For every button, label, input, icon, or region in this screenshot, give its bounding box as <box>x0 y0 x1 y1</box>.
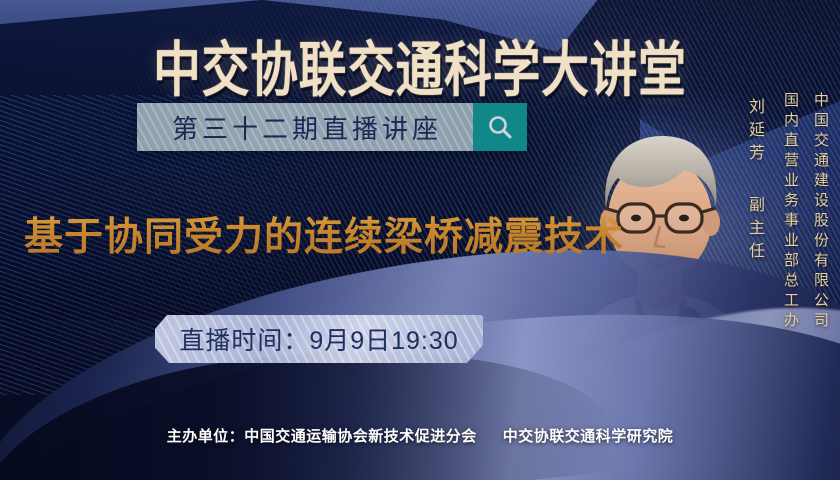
episode-label: 第三十二期直播讲座 <box>168 109 442 146</box>
page-title: 中交协联交通科学大讲堂 <box>13 22 828 109</box>
speaker-organization: 中国交通建设股份有限公司 <box>813 92 828 332</box>
broadcast-time-banner: 直播时间：9月9日19:30 <box>155 315 483 363</box>
footer-org-1: 中国交通运输协会新技术促进分会 <box>244 428 477 445</box>
speaker-name: 刘延芳 <box>746 98 762 167</box>
speaker-department: 国内直营业务事业部总工办 <box>783 92 798 332</box>
search-icon <box>486 113 514 141</box>
footer-label: 主办单位： <box>167 428 245 445</box>
broadcast-time-text: 直播时间：9月9日19:30 <box>179 321 458 357</box>
lecture-title: 基于协同受力的连续梁桥减震技术 <box>24 206 624 262</box>
episode-search-bar: 第三十二期直播讲座 <box>137 103 527 151</box>
footer-org-2: 中交协联交通科学研究院 <box>503 428 674 445</box>
episode-field[interactable]: 第三十二期直播讲座 <box>137 103 473 151</box>
footer-organizers: 主办单位：中国交通运输协会新技术促进分会中交协联交通科学研究院 <box>0 425 840 446</box>
live-stream-poster: 中交协联交通科学大讲堂 第三十二期直播讲座 基于协同受力的连续梁桥减震技术 直播… <box>0 0 840 480</box>
search-button[interactable] <box>473 103 527 151</box>
speaker-role: 副主任 <box>746 196 762 265</box>
